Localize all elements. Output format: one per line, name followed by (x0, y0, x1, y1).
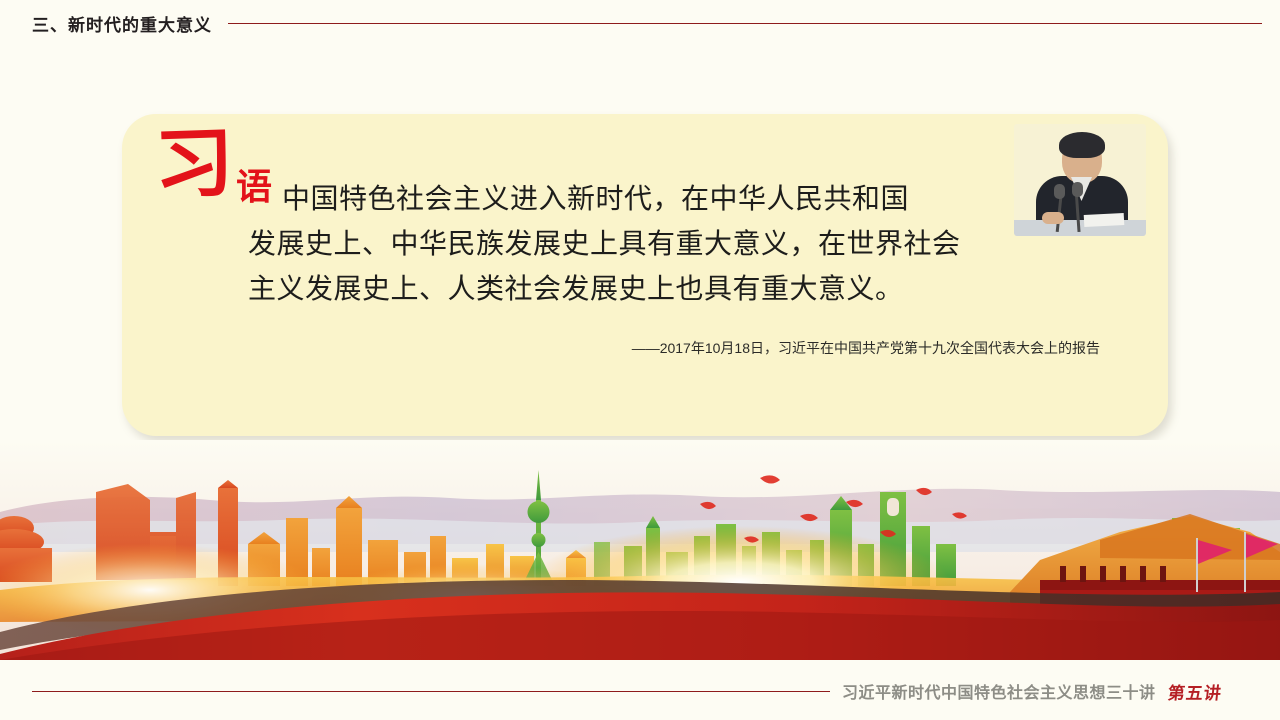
skyline-artwork-svg (0, 440, 1280, 660)
quote-attribution: ——2017年10月18日，习近平在中国共产党第十九次全国代表大会上的报告 (122, 338, 1168, 358)
slide-footer: 习近平新时代中国特色社会主义思想三十讲 第五讲 (0, 662, 1280, 720)
quote-text: 中国特色社会主义进入新时代，在中华人民共和国 发展史上、中华民族发展史上具有重大… (122, 176, 1168, 311)
quote-line: 主义发展史上、人类社会发展史上也具有重大意义。 (122, 266, 1168, 311)
quote-line: 中国特色社会主义进入新时代，在中华人民共和国 (122, 176, 1168, 221)
footer-lecture-number: 第五讲 (1166, 679, 1223, 704)
footer-divider (32, 691, 830, 692)
slide-header: 三、新时代的重大意义 (0, 0, 1280, 46)
header-divider (228, 23, 1262, 24)
quote-line: 发展史上、中华民族发展史上具有重大意义，在世界社会 (122, 221, 1168, 266)
skyline-artwork (0, 440, 1280, 660)
footer-series-title: 习近平新时代中国特色社会主义思想三十讲 (842, 679, 1156, 703)
portrait-hair (1059, 132, 1105, 158)
page-title: 三、新时代的重大意义 (32, 11, 212, 36)
slide-canvas: 三、新时代的重大意义 习 语 中国特色社会主义进入新时代，在中华人民共和国 发展… (0, 0, 1280, 720)
quote-card: 习 语 中国特色社会主义进入新时代，在中华人民共和国 发展史上、中华民族发展史上… (122, 114, 1168, 436)
